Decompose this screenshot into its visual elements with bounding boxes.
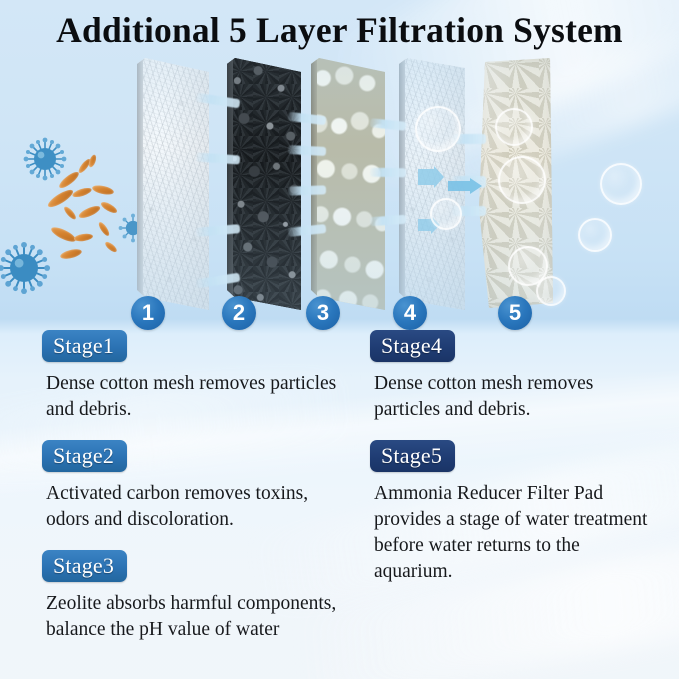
filter-layer-2	[227, 58, 301, 310]
layer-number-badge-2: 2	[222, 296, 256, 330]
stage-column-left: Stage1 Dense cotton mesh removes particl…	[42, 330, 352, 660]
stage-3-badge: Stage3	[42, 550, 127, 582]
stage-column-right: Stage4 Dense cotton mesh removes particl…	[370, 330, 660, 602]
stage-1-badge: Stage1	[42, 330, 127, 362]
filter-layer-3	[311, 58, 385, 310]
layer-number-badge-1: 1	[131, 296, 165, 330]
stage-2-description: Activated carbon removes toxins, odors a…	[46, 481, 352, 533]
layer-number-badge-5: 5	[498, 296, 532, 330]
virus-particle-icon	[22, 136, 68, 182]
stage-block-5: Stage5 Ammonia Reducer Filter Pad provid…	[370, 440, 660, 585]
stage-block-1: Stage1 Dense cotton mesh removes particl…	[42, 330, 352, 423]
stage-5-badge: Stage5	[370, 440, 455, 472]
stage-3-description: Zeolite absorbs harmful components, bala…	[46, 591, 352, 643]
stage-2-badge: Stage2	[42, 440, 127, 472]
stage-block-3: Stage3 Zeolite absorbs harmful component…	[42, 550, 352, 643]
flow-arrow-icon	[448, 178, 482, 194]
virus-particle-icon	[0, 240, 52, 296]
stage-5-description: Ammonia Reducer Filter Pad provides a st…	[374, 481, 660, 585]
stage-1-description: Dense cotton mesh removes particles and …	[46, 371, 352, 423]
flow-arrow-icon	[418, 166, 444, 188]
filtration-diagram: 1 2 3 4 5	[0, 58, 679, 328]
infographic-canvas: Additional 5 Layer Filtration System	[0, 0, 679, 679]
stage-4-description: Dense cotton mesh removes particles and …	[374, 371, 660, 423]
stage-4-badge: Stage4	[370, 330, 455, 362]
stage-block-4: Stage4 Dense cotton mesh removes particl…	[370, 330, 660, 423]
layer-number-badge-3: 3	[306, 296, 340, 330]
page-title: Additional 5 Layer Filtration System	[0, 9, 679, 51]
stage-descriptions: Stage1 Dense cotton mesh removes particl…	[0, 330, 679, 679]
stage-block-2: Stage2 Activated carbon removes toxins, …	[42, 440, 352, 533]
layer-number-badge-4: 4	[393, 296, 427, 330]
